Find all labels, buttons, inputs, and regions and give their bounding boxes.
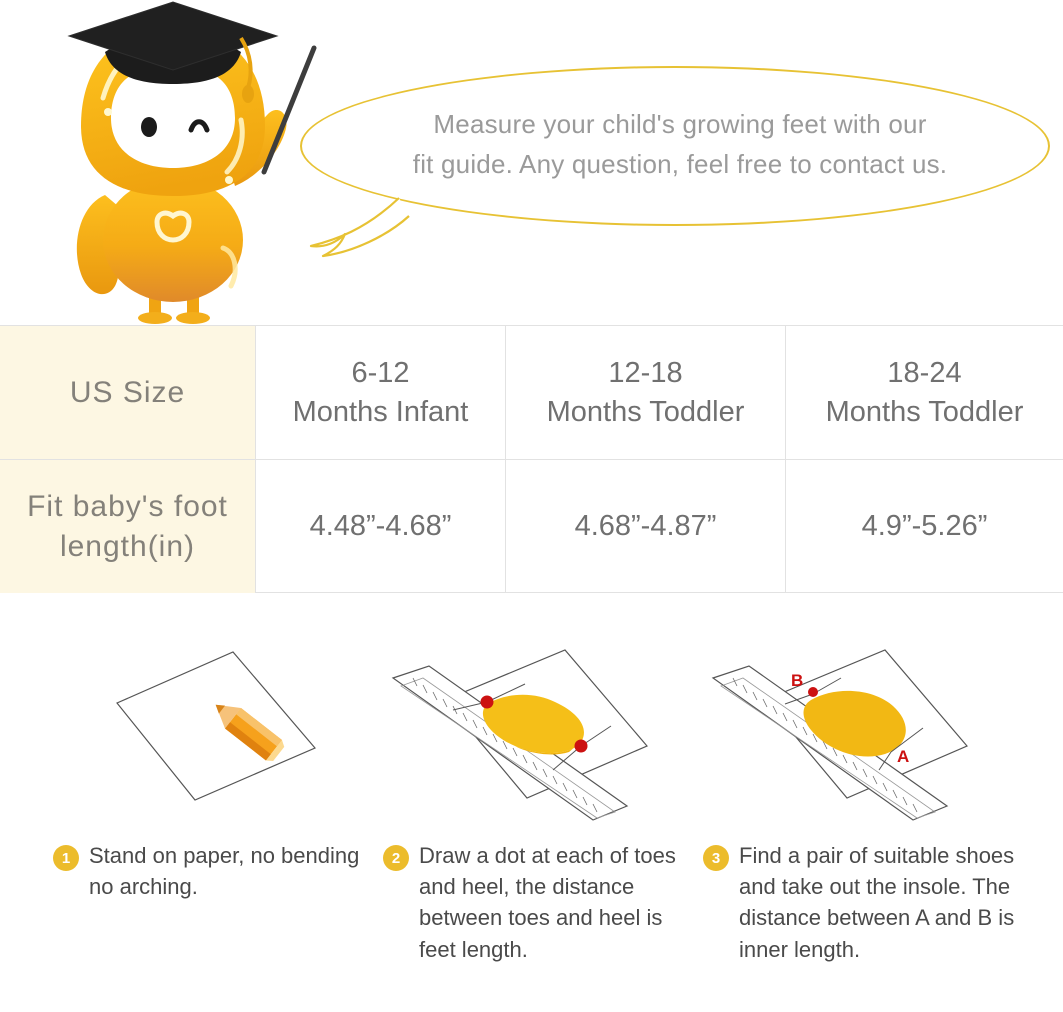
hero-section: Measure your child's growing feet with o… xyxy=(0,0,1063,325)
marker-a-label: A xyxy=(897,747,909,766)
step-3-text: Find a pair of suitable shoes and take o… xyxy=(739,840,1023,965)
table-cell-foot-length-2: 4.68”-4.87” xyxy=(505,460,785,593)
table-header-col-2: 12-18 Months Toddler xyxy=(505,326,785,459)
paper-with-pencil-icon xyxy=(45,630,375,830)
size-chart-table: US Size 6-12 Months Infant 12-18 Months … xyxy=(0,325,1063,593)
speech-bubble-tail-icon xyxy=(295,190,415,260)
table-header-col-1: 6-12 Months Infant xyxy=(255,326,505,459)
bubble-line-2: fit guide. Any question, feel free to co… xyxy=(330,145,1030,185)
ruler-foot-dots-icon xyxy=(375,630,705,830)
bubble-line-1: Measure your child's growing feet with o… xyxy=(330,105,1030,145)
table-cell-foot-length-3: 4.9”-5.26” xyxy=(785,460,1063,593)
step-3: B A 3 Find a pair of suitable shoes and … xyxy=(695,615,1025,1012)
step-1-caption: 1 Stand on paper, no bending no arching. xyxy=(53,840,373,902)
ruler-insole-ab-icon: B A xyxy=(695,630,1025,830)
size-guide-page: Measure your child's growing feet with o… xyxy=(0,0,1063,1012)
step-1-badge: 1 xyxy=(53,845,79,871)
step-2: 2 Draw a dot at each of toes and heel, t… xyxy=(375,615,705,1012)
step-3-caption: 3 Find a pair of suitable shoes and take… xyxy=(703,840,1023,965)
step-2-badge: 2 xyxy=(383,845,409,871)
measure-steps-section: 1 Stand on paper, no bending no arching. xyxy=(0,615,1063,1012)
table-row-label: Fit baby's foot length(in) xyxy=(0,460,255,593)
step-2-caption: 2 Draw a dot at each of toes and heel, t… xyxy=(383,840,703,965)
table-header-col-3: 18-24 Months Toddler xyxy=(785,326,1063,459)
table-cell-foot-length-1: 4.48”-4.68” xyxy=(255,460,505,593)
marker-b-label: B xyxy=(791,671,803,690)
speech-bubble-text: Measure your child's growing feet with o… xyxy=(330,105,1030,184)
step-1-text: Stand on paper, no bending no arching. xyxy=(89,840,373,902)
step-2-text: Draw a dot at each of toes and heel, the… xyxy=(419,840,703,965)
table-row: Fit baby's foot length(in) 4.48”-4.68” 4… xyxy=(0,460,1063,593)
table-header-row: US Size 6-12 Months Infant 12-18 Months … xyxy=(0,326,1063,460)
table-header-us-size: US Size xyxy=(0,326,255,459)
step-3-badge: 3 xyxy=(703,845,729,871)
step-1: 1 Stand on paper, no bending no arching. xyxy=(45,615,375,1012)
